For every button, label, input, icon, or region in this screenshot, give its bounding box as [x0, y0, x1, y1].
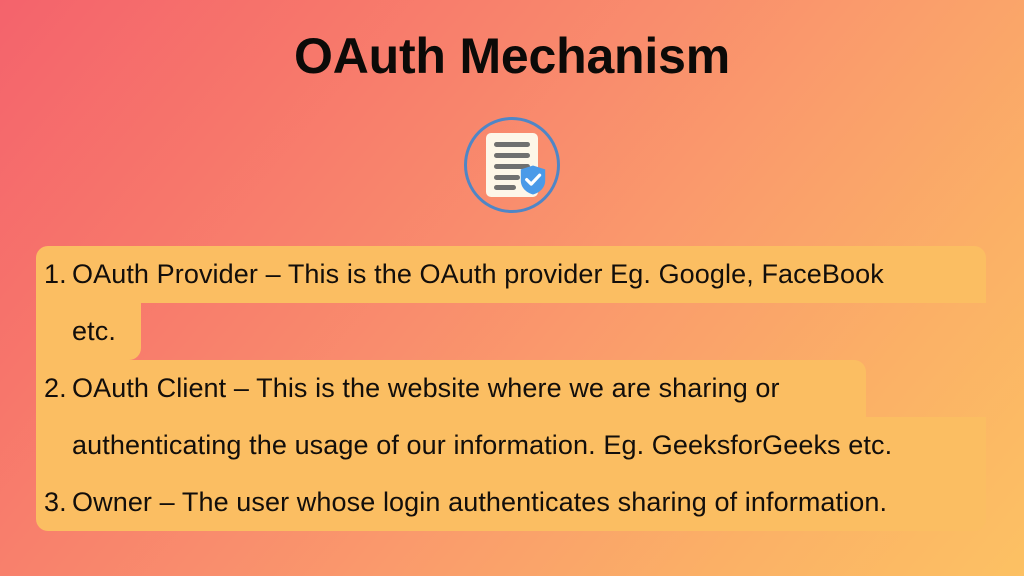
list-item: 1. OAuth Provider – This is the OAuth pr…: [36, 246, 986, 303]
list-item-line: 3. Owner – The user whose login authenti…: [44, 474, 887, 531]
list-item-line: etc.: [72, 303, 116, 360]
document-text-line: [494, 142, 530, 147]
shield-check-icon: [520, 165, 546, 195]
ordered-list: 1. OAuth Provider – This is the OAuth pr…: [36, 246, 986, 531]
list-item-text: OAuth Provider – This is the OAuth provi…: [72, 259, 884, 290]
document-text-line: [494, 185, 516, 190]
list-item-continuation: authenticating the usage of our informat…: [36, 417, 986, 474]
list-item: 3. Owner – The user whose login authenti…: [36, 474, 986, 531]
list-item-continuation: etc.: [36, 303, 986, 360]
slide-canvas: OAuth Mechanism 1. OAuth Provider – This…: [0, 0, 1024, 576]
page-title: OAuth Mechanism: [0, 26, 1024, 86]
list-item-line: authenticating the usage of our informat…: [72, 417, 892, 474]
list-item-number: 1.: [44, 259, 72, 290]
document-verified-icon: [464, 117, 560, 213]
list-item-text: authenticating the usage of our informat…: [72, 430, 892, 461]
list-item-text: OAuth Client – This is the website where…: [72, 373, 780, 404]
list-item-text: etc.: [72, 316, 116, 347]
list-item: 2. OAuth Client – This is the website wh…: [36, 360, 986, 417]
document-text-line: [494, 153, 530, 158]
list-item-line: 1. OAuth Provider – This is the OAuth pr…: [44, 246, 884, 303]
document-text-line: [494, 175, 520, 180]
list-item-line: 2. OAuth Client – This is the website wh…: [44, 360, 780, 417]
list-item-text: Owner – The user whose login authenticat…: [72, 487, 887, 518]
list-item-number: 3.: [44, 487, 72, 518]
list-item-number: 2.: [44, 373, 72, 404]
